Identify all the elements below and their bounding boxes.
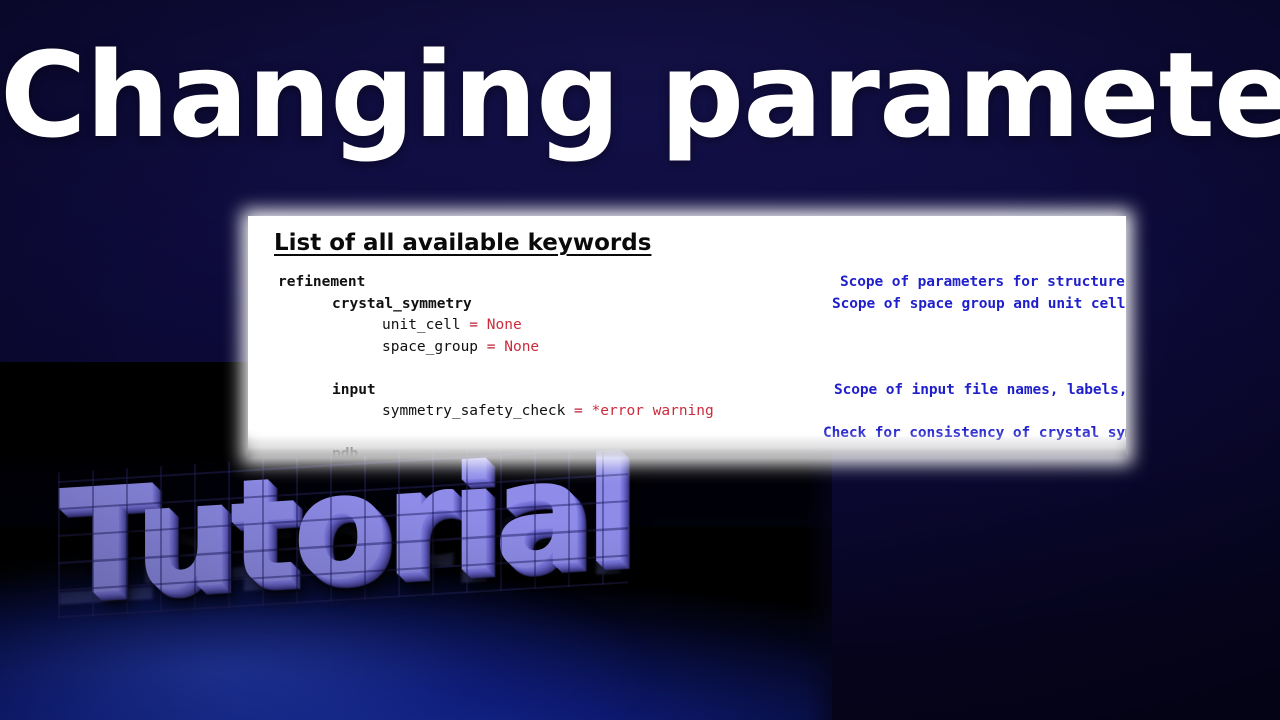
keyword-equals: = bbox=[478, 339, 504, 355]
keyword-row: unit_cell = None bbox=[248, 317, 1126, 339]
panel-heading: List of all available keywords bbox=[274, 230, 651, 256]
keyword-scope-name: pdb bbox=[332, 446, 358, 458]
keyword-list: refinementScope of parameters for struct… bbox=[248, 274, 1126, 458]
keyword-value: None bbox=[487, 317, 522, 333]
keyword-description: Scope of space group and unit cell param… bbox=[832, 296, 1126, 312]
keyword-description: Scope of input file names, labels, proce… bbox=[834, 382, 1126, 398]
keyword-description: Check for consistency of crystal symmetr… bbox=[823, 425, 1126, 441]
keyword-row: crystal_symmetryScope of space group and… bbox=[248, 296, 1126, 318]
keyword-row bbox=[248, 360, 1126, 382]
keyword-param-name: space_group = None bbox=[382, 339, 539, 355]
keyword-param-name: symmetry_safety_check = *error warning bbox=[382, 403, 714, 419]
keyword-equals: = bbox=[461, 317, 487, 333]
presentation-slide: Tutorial Tutorial Changing parameters Li… bbox=[0, 0, 1280, 720]
keyword-scope-name: crystal_symmetry bbox=[332, 296, 472, 312]
keyword-row: inputScope of input file names, labels, … bbox=[248, 382, 1126, 404]
keyword-param-name: unit_cell = None bbox=[382, 317, 522, 333]
page-title: Changing parameters bbox=[0, 34, 1280, 158]
keyword-scope-name: input bbox=[332, 382, 376, 398]
keyword-row: pdb bbox=[248, 446, 1126, 458]
keyword-row: space_group = None bbox=[248, 339, 1126, 361]
panel-surface: List of all available keywords refinemen… bbox=[248, 216, 1126, 458]
keywords-panel: List of all available keywords refinemen… bbox=[238, 206, 1136, 468]
keyword-description: Scope of parameters for structure refine… bbox=[840, 274, 1126, 290]
keyword-row: Check for consistency of crystal symmetr… bbox=[248, 425, 1126, 447]
keyword-row: refinementScope of parameters for struct… bbox=[248, 274, 1126, 296]
keyword-value: None bbox=[504, 339, 539, 355]
keyword-scope-name: refinement bbox=[278, 274, 365, 290]
keyword-row: symmetry_safety_check = *error warning bbox=[248, 403, 1126, 425]
keyword-value: *error warning bbox=[592, 403, 714, 419]
keyword-equals: = bbox=[565, 403, 591, 419]
